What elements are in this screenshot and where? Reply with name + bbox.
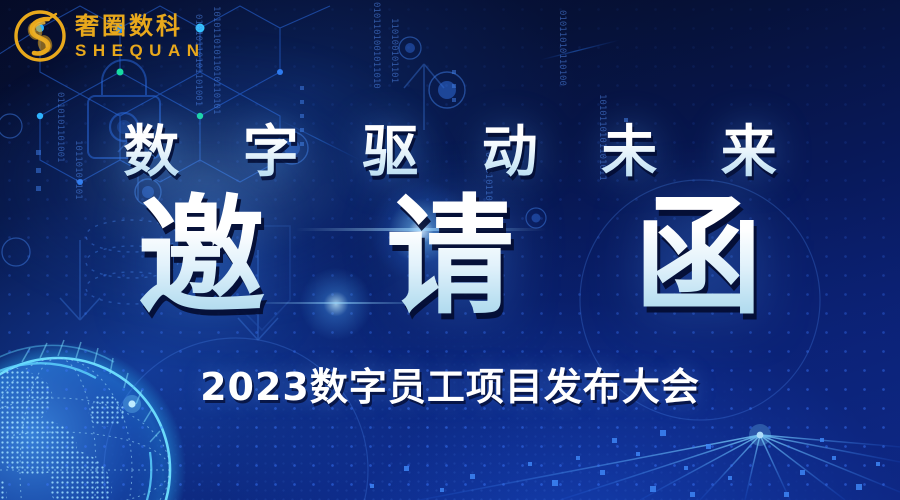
invitation-poster: 01010110101101001 10101101011010110101 0… bbox=[0, 0, 900, 500]
shequan-gold-s-emblem-icon bbox=[14, 10, 66, 62]
brand-wordmark: 奢圈数科 SHEQUAN bbox=[75, 14, 206, 59]
poster-subtitle: 2023数字员工项目发布大会 bbox=[0, 356, 900, 411]
poster-headline: 邀 请 函 bbox=[0, 186, 900, 329]
poster-tagline: 数 字 驱 动 未 来 bbox=[0, 107, 900, 188]
brand-name-cn: 奢圈数科 bbox=[75, 14, 206, 38]
poster-content: 奢圈数科 SHEQUAN 数 字 驱 动 未 来 邀 请 函 2023数字员工项… bbox=[0, 0, 900, 500]
brand-lockup[interactable]: 奢圈数科 SHEQUAN bbox=[14, 10, 206, 62]
brand-name-en: SHEQUAN bbox=[75, 42, 206, 59]
